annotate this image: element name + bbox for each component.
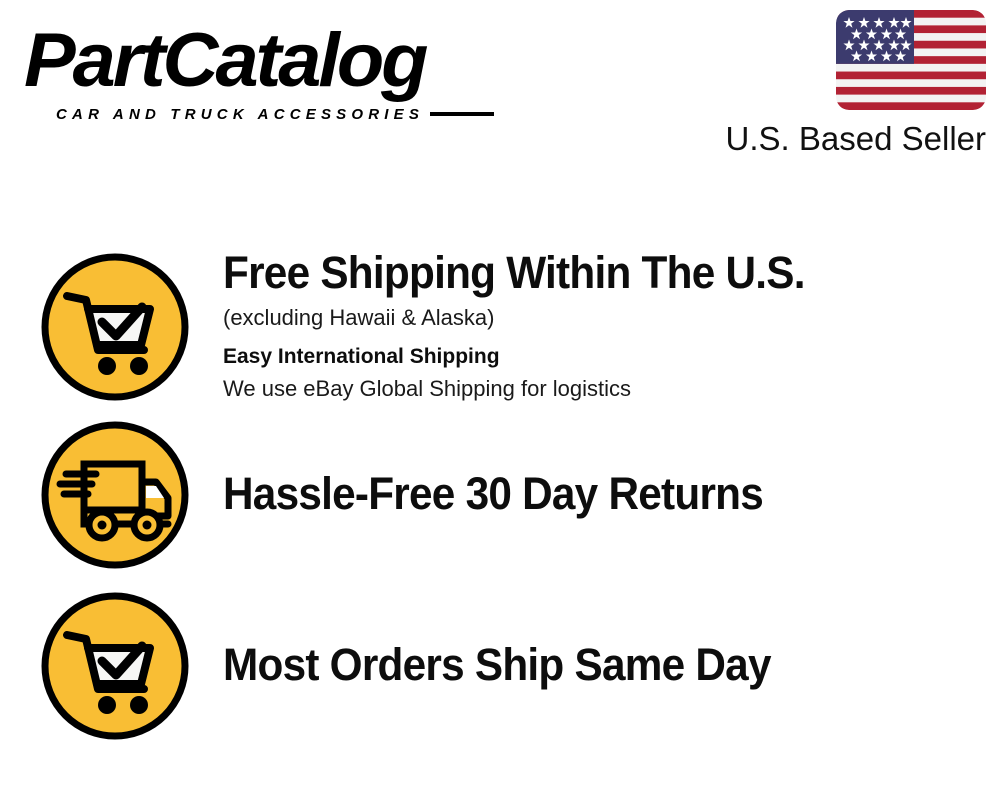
promo-banner: PartCatalog CAR AND TRUCK ACCESSORIES bbox=[0, 0, 1000, 800]
shopping-cart-check-icon bbox=[40, 591, 190, 741]
feature-text: Hassle-Free 30 Day Returns bbox=[223, 469, 980, 521]
feature-heading: Free Shipping Within The U.S. bbox=[223, 248, 935, 298]
delivery-truck-icon bbox=[40, 420, 190, 570]
feature-text: Free Shipping Within The U.S. (excluding… bbox=[223, 248, 980, 406]
feature-subtext-detail: We use eBay Global Shipping for logistic… bbox=[223, 374, 980, 404]
feature-row: Most Orders Ship Same Day bbox=[40, 591, 980, 741]
feature-heading: Hassle-Free 30 Day Returns bbox=[223, 469, 935, 519]
feature-row: Free Shipping Within The U.S. (excluding… bbox=[40, 248, 980, 406]
brand-logo: PartCatalog CAR AND TRUCK ACCESSORIES bbox=[24, 18, 494, 123]
brand-tagline-rule bbox=[430, 112, 494, 116]
us-based-seller-badge: U.S. Based Seller bbox=[716, 10, 986, 158]
us-based-seller-label: U.S. Based Seller bbox=[716, 120, 986, 158]
shopping-cart-check-icon bbox=[40, 252, 190, 402]
brand-wordmark: PartCatalog bbox=[24, 18, 425, 104]
feature-row: Hassle-Free 30 Day Returns bbox=[40, 420, 980, 570]
feature-text: Most Orders Ship Same Day bbox=[223, 640, 980, 692]
feature-subtext-strong: Easy International Shipping bbox=[223, 342, 980, 372]
feature-subtext: (excluding Hawaii & Alaska) bbox=[223, 302, 980, 333]
feature-heading: Most Orders Ship Same Day bbox=[223, 640, 935, 690]
us-flag-icon bbox=[836, 10, 986, 110]
brand-tagline-row: CAR AND TRUCK ACCESSORIES bbox=[56, 106, 494, 123]
brand-tagline: CAR AND TRUCK ACCESSORIES bbox=[56, 106, 424, 123]
